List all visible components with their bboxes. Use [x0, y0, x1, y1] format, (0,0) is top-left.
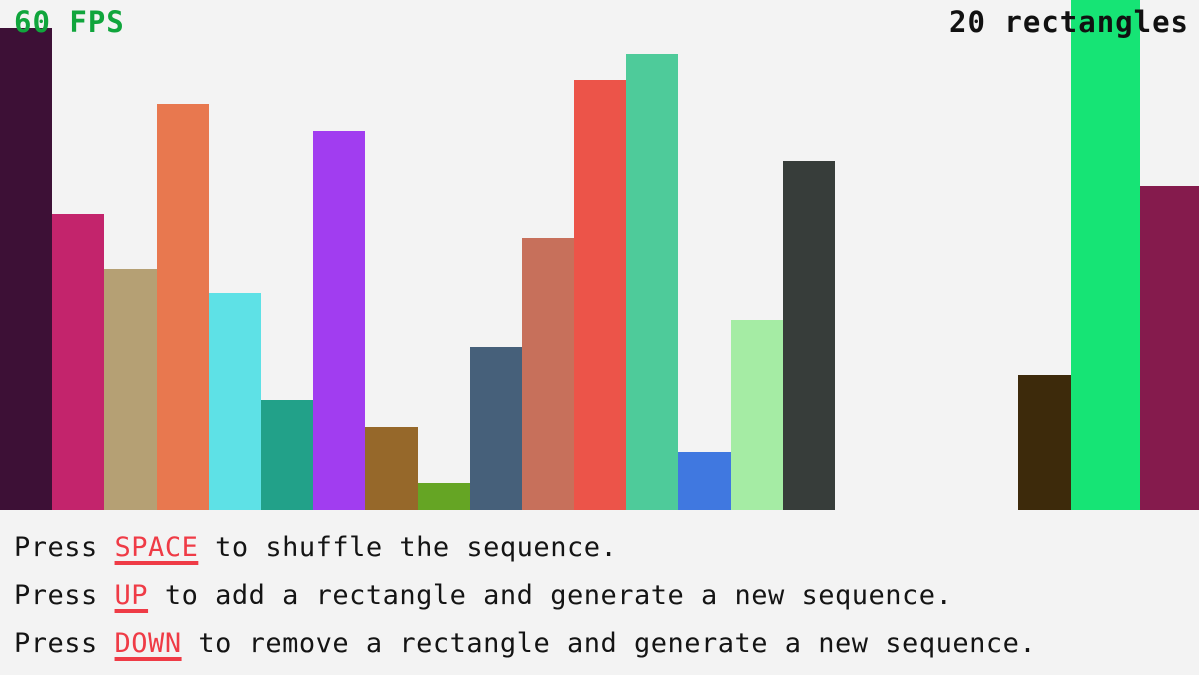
fps-counter: 60 FPS: [14, 8, 125, 37]
instruction-line: Press UP to add a rectangle and generate…: [14, 572, 1199, 620]
instruction-line: Press SPACE to shuffle the sequence.: [14, 524, 1199, 572]
bar-rectangle: [418, 483, 470, 510]
app-window: 60 FPS 20 rectangles Press SPACE to shuf…: [0, 0, 1199, 675]
bar-rectangle: [783, 161, 835, 510]
bar-rectangle: [365, 427, 418, 510]
bar-rectangle: [626, 54, 678, 510]
instruction-suffix: to shuffle the sequence.: [198, 532, 617, 563]
rectangle-count-label: 20 rectangles: [949, 8, 1189, 37]
key-up[interactable]: UP: [115, 580, 149, 611]
bar-rectangle: [209, 293, 261, 510]
bar-rectangle: [1140, 186, 1199, 510]
instructions-panel: Press SPACE to shuffle the sequence. Pre…: [0, 510, 1199, 675]
bar-rectangle: [104, 269, 157, 510]
bar-rectangle: [574, 80, 626, 510]
bar-rectangle: [731, 320, 783, 510]
instruction-prefix: Press: [14, 580, 115, 611]
key-down[interactable]: DOWN: [115, 628, 182, 659]
instruction-prefix: Press: [14, 628, 115, 659]
bar-rectangle: [0, 28, 52, 510]
bar-rectangle: [1071, 0, 1140, 510]
bar-rectangle: [313, 131, 365, 510]
rectangle-canvas[interactable]: [0, 0, 1199, 510]
instruction-suffix: to add a rectangle and generate a new se…: [148, 580, 952, 611]
bar-rectangle: [157, 104, 209, 510]
instruction-line: Press DOWN to remove a rectangle and gen…: [14, 620, 1199, 668]
instruction-suffix: to remove a rectangle and generate a new…: [182, 628, 1037, 659]
bar-rectangle: [261, 400, 313, 510]
bar-rectangle: [52, 214, 104, 510]
bar-rectangle: [678, 452, 731, 510]
key-space[interactable]: SPACE: [115, 532, 199, 563]
bar-rectangle: [470, 347, 522, 510]
bar-rectangle: [1018, 375, 1071, 510]
bar-rectangle: [522, 238, 574, 510]
instruction-prefix: Press: [14, 532, 115, 563]
